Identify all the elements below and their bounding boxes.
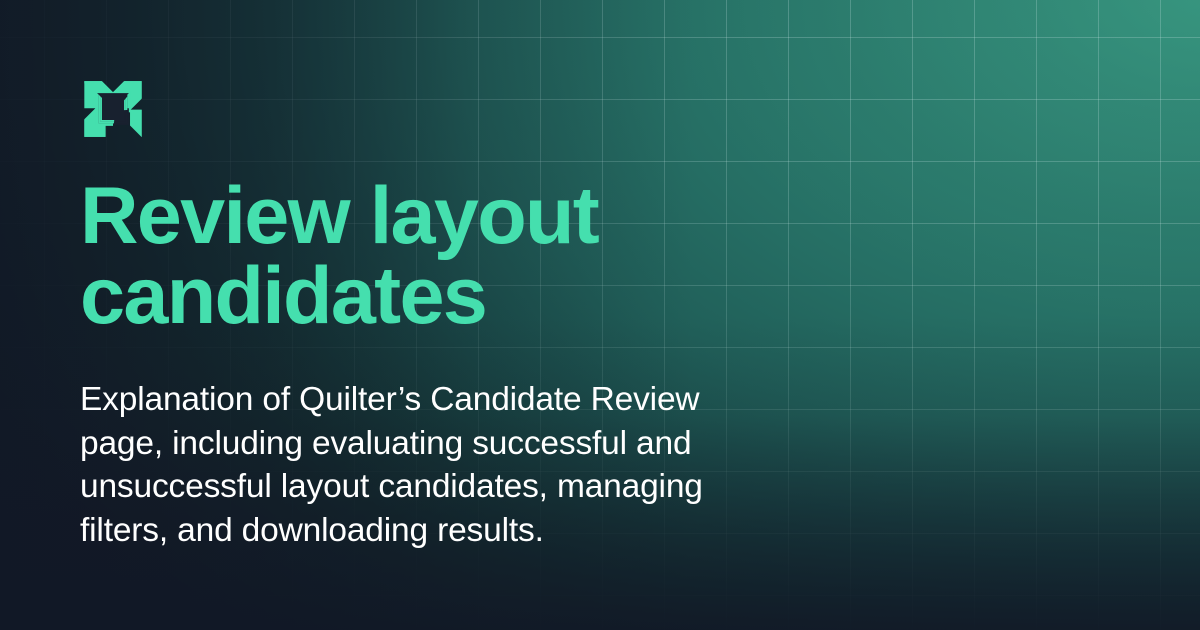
card-content: Quilter logo Review layout candidates Ex… xyxy=(0,0,1200,630)
social-share-card: Quilter logo Review layout candidates Ex… xyxy=(0,0,1200,630)
page-description: Explanation of Quilter’s Candidate Revie… xyxy=(80,378,825,552)
quilter-logo-icon: Quilter logo xyxy=(82,78,144,140)
page-title: Review layout candidates xyxy=(80,176,840,336)
